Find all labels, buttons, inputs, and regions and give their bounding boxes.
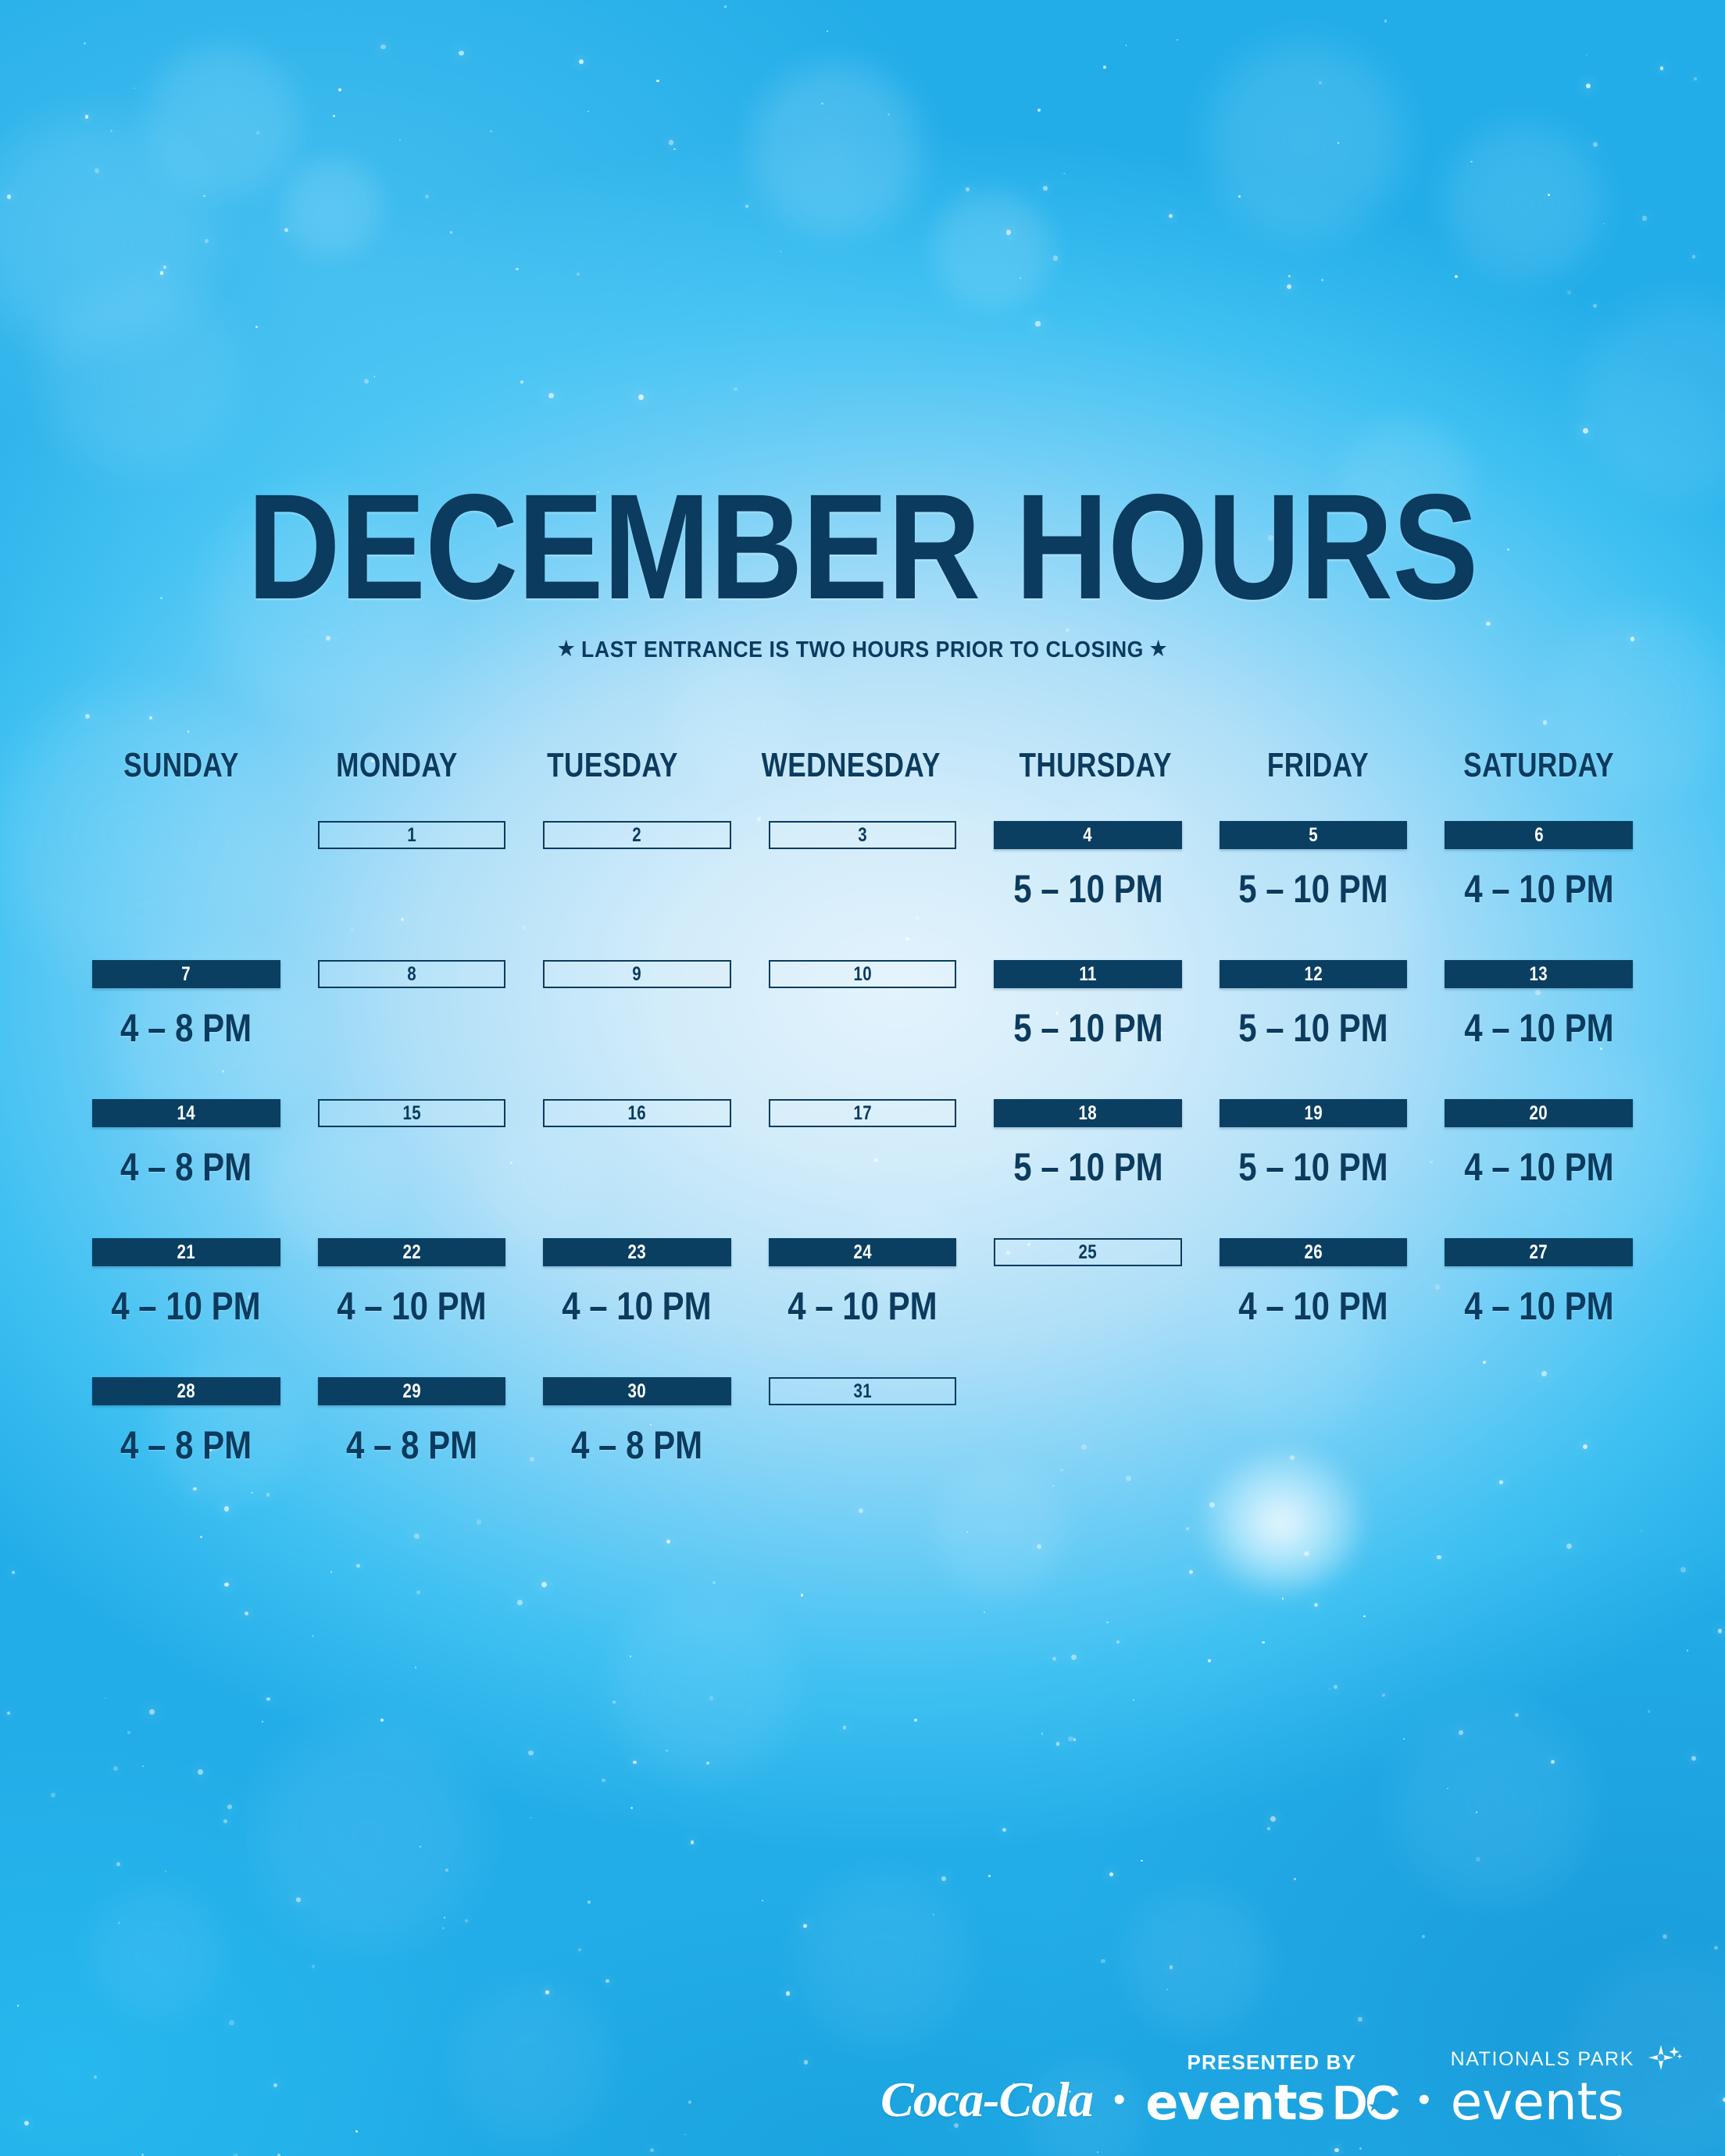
calendar-day-5[interactable]: 55 – 10 PM [1220,821,1408,912]
calendar-day-28[interactable]: 284 – 8 PM [92,1377,280,1468]
calendar-day-16[interactable]: 16 [543,1099,731,1190]
calendar-day-27[interactable]: 274 – 10 PM [1445,1238,1633,1329]
day-number: 9 [633,963,642,986]
day-number: 18 [1079,1102,1097,1125]
day-number: 5 [1309,824,1318,847]
day-number: 2 [633,824,642,847]
day-hours: 5 – 10 PM [1013,866,1162,912]
day-hours: 4 – 10 PM [1464,1144,1613,1190]
calendar-grid: SUNDAYMONDAYTUESDAYWEDNESDAYTHURSDAYFRID… [92,746,1633,1516]
day-hours: 4 – 10 PM [1464,1283,1613,1329]
day-hours: 4 – 10 PM [787,1283,937,1329]
day-number-pill: 24 [769,1238,957,1266]
day-hours: 5 – 10 PM [1238,1005,1387,1051]
day-of-week-sunday: SUNDAY [110,746,252,785]
day-hours: 4 – 10 PM [1464,866,1613,912]
day-number: 10 [853,963,871,986]
day-number: 8 [407,963,416,986]
calendar-day-21[interactable]: 214 – 10 PM [92,1238,280,1329]
calendar-day-2[interactable]: 2 [543,821,731,912]
calendar-day-4[interactable]: 45 – 10 PM [994,821,1182,912]
calendar-day-10[interactable]: 10 [769,960,957,1051]
day-number: 29 [402,1380,420,1403]
day-number-pill: 7 [92,960,280,988]
day-number-pill: 22 [318,1238,506,1266]
sparkle-star-icon [1637,2044,1683,2075]
day-number: 16 [628,1102,646,1125]
day-number: 19 [1304,1102,1322,1125]
day-number-pill: 28 [92,1377,280,1405]
calendar-day-25[interactable]: 25 [994,1238,1182,1329]
day-number-pill: 26 [1220,1238,1408,1266]
day-number: 25 [1079,1241,1097,1264]
day-number: 20 [1530,1102,1548,1125]
day-number-pill: 4 [994,821,1182,849]
day-hours: 4 – 10 PM [562,1283,712,1329]
calendar-day-31[interactable]: 31 [769,1377,957,1468]
calendar-week-row: 12345 – 10 PM55 – 10 PM64 – 10 PM [92,821,1633,912]
day-number-pill: 30 [543,1377,731,1405]
day-hours: 4 – 8 PM [120,1422,252,1468]
day-hours: 4 – 8 PM [571,1422,702,1468]
npe-events-word: events [1451,2076,1624,2128]
day-number: 1 [407,824,416,847]
calendar-day-29[interactable]: 294 – 8 PM [318,1377,506,1468]
day-number-pill: 17 [769,1099,957,1127]
calendar-day-20[interactable]: 204 – 10 PM [1445,1099,1633,1190]
day-number-pill: 16 [543,1099,731,1127]
calendar-day-1[interactable]: 1 [318,821,506,912]
events-dc-wordmark: events DC ★ [1145,2079,1398,2128]
day-number-pill: 6 [1445,821,1633,849]
calendar-day-6[interactable]: 64 – 10 PM [1445,821,1633,912]
day-of-week-tuesday: TUESDAY [541,746,684,785]
calendar-day-13[interactable]: 134 – 10 PM [1445,960,1633,1051]
subtitle-text: LAST ENTRANCE IS TWO HOURS PRIOR TO CLOS… [581,637,1144,662]
day-number-pill: 14 [92,1099,280,1127]
calendar-day-empty [994,1377,1182,1468]
calendar-day-11[interactable]: 115 – 10 PM [994,960,1182,1051]
day-number: 24 [853,1241,871,1264]
calendar-day-22[interactable]: 224 – 10 PM [318,1238,506,1329]
day-hours: 4 – 10 PM [1464,1005,1613,1051]
calendar-day-30[interactable]: 304 – 8 PM [543,1377,731,1468]
day-number-pill: 31 [769,1377,957,1405]
day-number-pill: 5 [1220,821,1408,849]
day-number-pill: 9 [543,960,731,988]
calendar-day-empty [1445,1377,1633,1468]
calendar-day-26[interactable]: 264 – 10 PM [1220,1238,1408,1329]
poster-subtitle: ★ LAST ENTRANCE IS TWO HOURS PRIOR TO CL… [69,637,1655,663]
day-number: 3 [858,824,867,847]
day-hours: 5 – 10 PM [1013,1144,1162,1190]
events-word: events [1145,2079,1324,2127]
day-number: 28 [177,1380,195,1403]
day-hours: 4 – 8 PM [120,1144,252,1190]
day-hours: 4 – 8 PM [120,1005,252,1051]
day-of-week-header-row: SUNDAYMONDAYTUESDAYWEDNESDAYTHURSDAYFRID… [92,746,1633,785]
calendar-day-empty [1220,1377,1408,1468]
day-hours: 4 – 10 PM [1238,1283,1387,1329]
calendar-day-17[interactable]: 17 [769,1099,957,1190]
day-number-pill: 1 [318,821,506,849]
day-of-week-monday: MONDAY [326,746,468,785]
calendar-week-row: 144 – 8 PM151617185 – 10 PM195 – 10 PM20… [92,1099,1633,1190]
day-hours: 4 – 10 PM [337,1283,486,1329]
calendar-week-row: 214 – 10 PM224 – 10 PM234 – 10 PM244 – 1… [92,1238,1633,1329]
calendar-day-19[interactable]: 195 – 10 PM [1220,1099,1408,1190]
calendar-day-empty [92,821,280,912]
events-dc-logo: PRESENTED BY events DC ★ [1145,2052,1398,2128]
day-number-pill: 25 [994,1238,1182,1266]
coca-cola-logo: Coca-Cola [880,2075,1093,2128]
day-number: 17 [853,1102,871,1125]
calendar-day-8[interactable]: 8 [318,960,506,1051]
calendar-day-18[interactable]: 185 – 10 PM [994,1099,1182,1190]
day-number-pill: 10 [769,960,957,988]
day-hours: 4 – 8 PM [346,1422,477,1468]
calendar-day-23[interactable]: 234 – 10 PM [543,1238,731,1329]
day-number-pill: 21 [92,1238,280,1266]
nationals-park-label: NATIONALS PARK [1451,2050,1634,2069]
day-number: 15 [402,1102,420,1125]
poster-header: DECEMBER HOURS ★ LAST ENTRANCE IS TWO HO… [0,478,1725,663]
star-icon-left: ★ [558,637,575,660]
calendar-day-14[interactable]: 144 – 8 PM [92,1099,280,1190]
day-hours: 5 – 10 PM [1013,1005,1162,1051]
star-icon-dc: ★ [1369,2100,1378,2113]
calendar-day-3[interactable]: 3 [769,821,957,912]
day-number-pill: 29 [318,1377,506,1405]
day-number: 12 [1304,963,1322,986]
day-number: 27 [1530,1241,1548,1264]
day-number-pill: 13 [1445,960,1633,988]
day-number: 13 [1530,963,1548,986]
day-number: 22 [402,1241,420,1264]
nationals-park-row: NATIONALS PARK [1451,2044,1683,2075]
day-number: 30 [628,1380,646,1403]
nationals-park-events-logo: NATIONALS PARK events [1451,2039,1683,2128]
separator-dot-1: • [1093,2083,1145,2128]
calendar-day-24[interactable]: 244 – 10 PM [769,1238,957,1329]
day-of-week-thursday: THURSDAY [1020,746,1173,785]
calendar-day-7[interactable]: 74 – 8 PM [92,960,280,1051]
day-number-pill: 12 [1220,960,1408,988]
day-number-pill: 20 [1445,1099,1633,1127]
day-number: 4 [1084,824,1093,847]
page-title: DECEMBER HOURS [121,478,1605,616]
day-number-pill: 8 [318,960,506,988]
day-of-week-saturday: SATURDAY [1463,746,1614,785]
day-hours: 4 – 10 PM [112,1283,261,1329]
day-number: 6 [1534,824,1544,847]
separator-dot-2: • [1398,2083,1450,2128]
day-number: 31 [853,1380,871,1403]
calendar-day-15[interactable]: 15 [318,1099,506,1190]
dc-word: DC ★ [1333,2079,1398,2128]
day-number-pill: 11 [994,960,1182,988]
presented-by-label: PRESENTED BY [1187,2052,1356,2072]
day-number-pill: 27 [1445,1238,1633,1266]
sponsor-footer: Coca-Cola • PRESENTED BY events DC ★ • N… [880,2039,1683,2128]
day-number-pill: 23 [543,1238,731,1266]
day-number: 26 [1304,1241,1322,1264]
day-number-pill: 15 [318,1099,506,1127]
calendar-week-row: 284 – 8 PM294 – 8 PM304 – 8 PM31 [92,1377,1633,1468]
calendar-day-12[interactable]: 125 – 10 PM [1220,960,1408,1051]
star-icon-right: ★ [1150,637,1167,660]
day-number-pill: 2 [543,821,731,849]
day-number: 21 [177,1241,195,1264]
dc-text: DC [1333,2076,1398,2130]
day-number-pill: 19 [1220,1099,1408,1127]
day-of-week-wednesday: WEDNESDAY [762,746,941,785]
day-of-week-friday: FRIDAY [1247,746,1389,785]
day-number-pill: 18 [994,1099,1182,1127]
calendar-week-row: 74 – 8 PM8910115 – 10 PM125 – 10 PM134 –… [92,960,1633,1051]
day-number: 11 [1079,963,1096,986]
calendar-day-9[interactable]: 9 [543,960,731,1051]
day-number: 14 [177,1102,195,1125]
day-number-pill: 3 [769,821,957,849]
day-hours: 5 – 10 PM [1238,1144,1387,1190]
day-number: 7 [181,963,191,986]
day-hours: 5 – 10 PM [1238,866,1387,912]
calendar-weeks: 12345 – 10 PM55 – 10 PM64 – 10 PM74 – 8 … [92,821,1633,1468]
day-number: 23 [628,1241,646,1264]
